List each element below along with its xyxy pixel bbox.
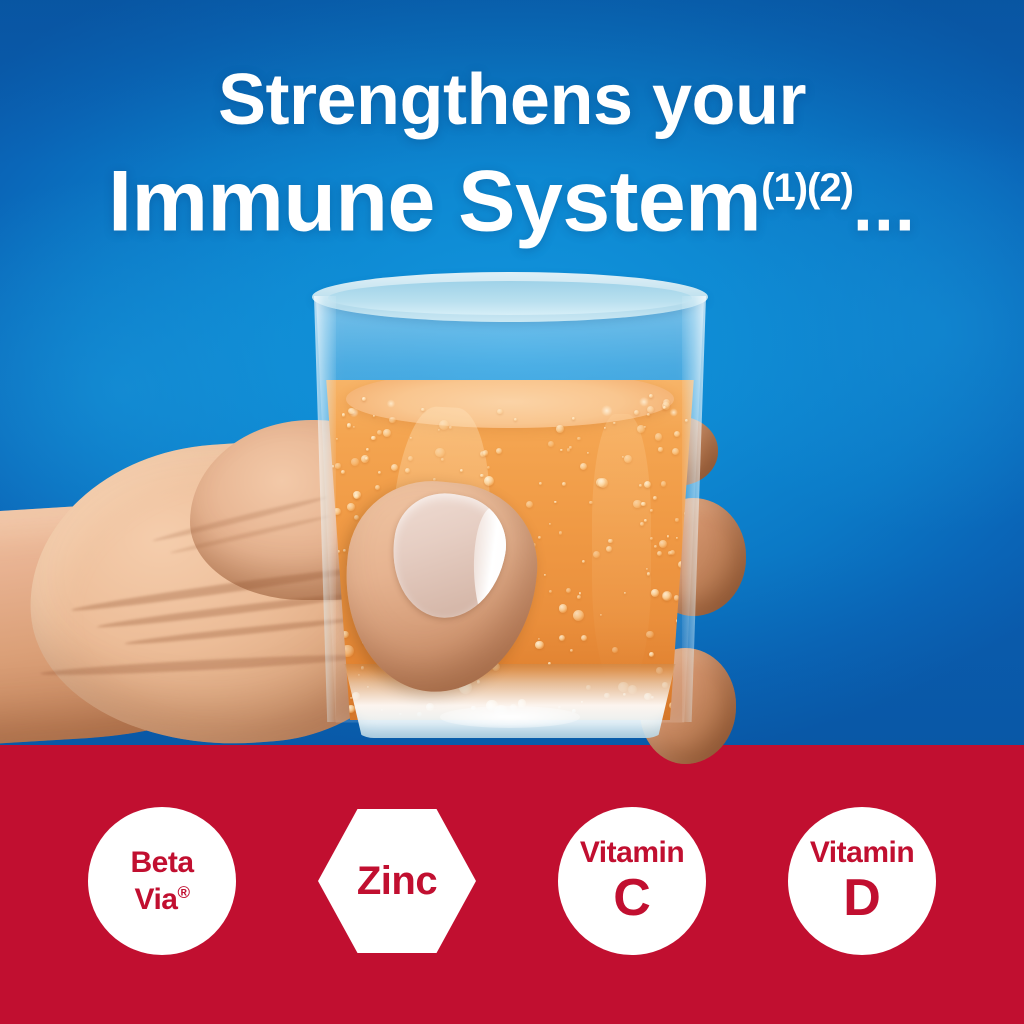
badge-betavia-line1: Beta: [130, 848, 193, 878]
badge-betavia-line2: Via®: [134, 884, 189, 915]
badge-vitamin-c-line1: Vitamin: [580, 838, 684, 868]
badge-betavia[interactable]: Beta Via®: [88, 807, 236, 955]
headline-ellipsis: ...: [853, 167, 916, 247]
thumb-group: [0, 398, 760, 778]
badge-vitamin-d-letter: D: [843, 872, 881, 924]
glass-rim-inner: [328, 281, 692, 315]
ingredient-badges: Beta Via® Zinc Vitamin C Vitamin D: [0, 806, 1024, 956]
badge-vitamin-d[interactable]: Vitamin D: [788, 807, 936, 955]
headline-line-1: Strengthens your: [0, 62, 1024, 138]
headline-line-2-text: Immune System: [108, 154, 761, 250]
registered-trademark-icon: ®: [177, 883, 189, 902]
badge-betavia-line2-text: Via: [134, 883, 177, 916]
badge-vitamin-c[interactable]: Vitamin C: [558, 807, 706, 955]
headline: Strengthens your Immune System(1)(2)...: [0, 62, 1024, 253]
advertisement-canvas: Strengthens your Immune System(1)(2)...: [0, 0, 1024, 1024]
headline-superscript-refs: (1)(2): [761, 166, 853, 210]
badge-zinc[interactable]: Zinc: [318, 806, 476, 956]
badge-vitamin-d-line1: Vitamin: [810, 838, 914, 868]
badge-zinc-label: Zinc: [357, 861, 437, 901]
headline-line-2: Immune System(1)(2)...: [0, 142, 1024, 253]
badge-vitamin-c-letter: C: [613, 872, 651, 924]
